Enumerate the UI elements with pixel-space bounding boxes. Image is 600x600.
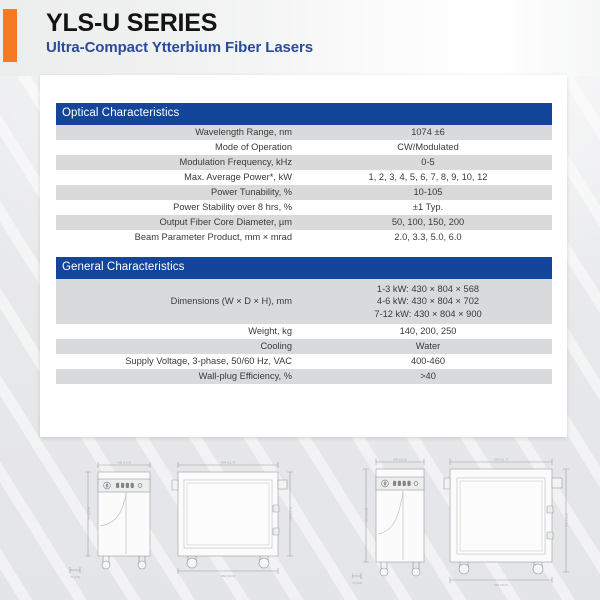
table-row: Modulation Frequency, kHz 0-5 bbox=[56, 155, 552, 170]
table-row: Wall-plug Efficiency, % >40 bbox=[56, 369, 552, 384]
row-label: Weight, kg bbox=[56, 324, 304, 339]
svg-text:862 [33.9]: 862 [33.9] bbox=[494, 583, 508, 586]
svg-text:70 [2.8]: 70 [2.8] bbox=[70, 575, 80, 579]
row-label: Supply Voltage, 3-phase, 50/60 Hz, VAC bbox=[56, 354, 304, 369]
general-table-body: General Characteristics Dimensions (W × … bbox=[56, 257, 552, 384]
row-label: Max. Average Power*, kW bbox=[56, 170, 304, 185]
svg-text:568 [22.4]: 568 [22.4] bbox=[86, 507, 90, 521]
table-row: Power Tunability, % 10-105 bbox=[56, 185, 552, 200]
row-value: 1, 2, 3, 4, 5, 6, 7, 8, 9, 10, 12 bbox=[304, 170, 552, 185]
section-header-label-optical: Optical Characteristics bbox=[56, 103, 552, 125]
row-value: 140, 200, 250 bbox=[304, 324, 552, 339]
svg-text:900 [35.4]: 900 [35.4] bbox=[564, 513, 568, 527]
row-value: 10-105 bbox=[304, 185, 552, 200]
row-value: 400-460 bbox=[304, 354, 552, 369]
orange-accent-bar bbox=[3, 9, 17, 62]
drawing-front-elevation-large: 804 [31.7] 862 [33.9] 900 [35.4] bbox=[440, 454, 590, 586]
row-label: Wavelength Range, nm bbox=[56, 125, 304, 140]
general-characteristics-table: General Characteristics Dimensions (W × … bbox=[56, 257, 552, 384]
row-value-line: 4-6 kW: 430 × 804 × 702 bbox=[304, 295, 552, 308]
table-row: Wavelength Range, nm 1074 ±6 bbox=[56, 125, 552, 140]
table-row: Output Fiber Core Diameter, µm 50, 100, … bbox=[56, 215, 552, 230]
row-label: Dimensions (W × D × H), mm bbox=[56, 279, 304, 324]
row-value-line: 7-12 kW: 430 × 804 × 900 bbox=[304, 308, 552, 321]
svg-text:568 [22.4]: 568 [22.4] bbox=[288, 507, 292, 521]
svg-text:804 [31.7]: 804 [31.7] bbox=[494, 458, 508, 462]
svg-text:862 [33.9]: 862 [33.9] bbox=[221, 574, 235, 578]
drawing-side-elevation-small: 430 [16.9] 568 [22.4] 70 [2.8] bbox=[68, 458, 163, 580]
page-subtitle: Ultra-Compact Ytterbium Fiber Lasers bbox=[46, 38, 313, 58]
row-label: Cooling bbox=[56, 339, 304, 354]
svg-text:900 [35.4]: 900 [35.4] bbox=[364, 508, 368, 522]
svg-text:804 [31.7]: 804 [31.7] bbox=[221, 461, 235, 465]
optical-characteristics-table: Optical Characteristics Wavelength Range… bbox=[56, 103, 552, 245]
row-value: 50, 100, 150, 200 bbox=[304, 215, 552, 230]
row-value: >40 bbox=[304, 369, 552, 384]
section-header-label-general: General Characteristics bbox=[56, 257, 552, 279]
row-label: Power Tunability, % bbox=[56, 185, 304, 200]
table-row: Power Stability over 8 hrs, % ±1 Typ. bbox=[56, 200, 552, 215]
svg-text:430 [16.9]: 430 [16.9] bbox=[393, 458, 407, 462]
row-label: Beam Parameter Product, mm × mrad bbox=[56, 230, 304, 245]
row-label: Modulation Frequency, kHz bbox=[56, 155, 304, 170]
row-label: Power Stability over 8 hrs, % bbox=[56, 200, 304, 215]
table-row: Cooling Water bbox=[56, 339, 552, 354]
section-header-general: General Characteristics bbox=[56, 257, 552, 279]
page-header: YLS-U SERIES Ultra-Compact Ytterbium Fib… bbox=[0, 0, 600, 76]
table-row: Beam Parameter Product, mm × mrad 2.0, 3… bbox=[56, 230, 552, 245]
spec-card: Optical Characteristics Wavelength Range… bbox=[40, 75, 567, 437]
row-label: Mode of Operation bbox=[56, 140, 304, 155]
table-row: Mode of Operation CW/Modulated bbox=[56, 140, 552, 155]
row-label: Wall-plug Efficiency, % bbox=[56, 369, 304, 384]
technical-drawings: 430 [16.9] 568 [22.4] 70 [2.8] bbox=[0, 440, 600, 600]
row-value-line: 1-3 kW: 430 × 804 × 568 bbox=[304, 283, 552, 296]
row-label: Output Fiber Core Diameter, µm bbox=[56, 215, 304, 230]
table-row: Supply Voltage, 3-phase, 50/60 Hz, VAC 4… bbox=[56, 354, 552, 369]
svg-text:430 [16.9]: 430 [16.9] bbox=[117, 461, 131, 465]
row-value: 1074 ±6 bbox=[304, 125, 552, 140]
row-value: CW/Modulated bbox=[304, 140, 552, 155]
drawing-side-elevation-large: 430 [16.9] 900 [35.4] 70 [2.8] bbox=[352, 454, 442, 586]
row-value: 2.0, 3.3, 5.0, 6.0 bbox=[304, 230, 552, 245]
table-row: Weight, kg 140, 200, 250 bbox=[56, 324, 552, 339]
drawing-front-elevation-small: 804 [31.7] 862 [33.9] 568 [22.4] bbox=[170, 458, 305, 580]
svg-text:70 [2.8]: 70 [2.8] bbox=[352, 581, 362, 585]
section-header-optical: Optical Characteristics bbox=[56, 103, 552, 125]
table-row: Max. Average Power*, kW 1, 2, 3, 4, 5, 6… bbox=[56, 170, 552, 185]
row-value: Water bbox=[304, 339, 552, 354]
row-value: 0-5 bbox=[304, 155, 552, 170]
table-row: Dimensions (W × D × H), mm 1-3 kW: 430 ×… bbox=[56, 279, 552, 324]
row-value-multiline: 1-3 kW: 430 × 804 × 568 4-6 kW: 430 × 80… bbox=[304, 279, 552, 324]
optical-table-body: Optical Characteristics Wavelength Range… bbox=[56, 103, 552, 245]
row-value: ±1 Typ. bbox=[304, 200, 552, 215]
page-title: YLS-U SERIES bbox=[46, 8, 217, 38]
